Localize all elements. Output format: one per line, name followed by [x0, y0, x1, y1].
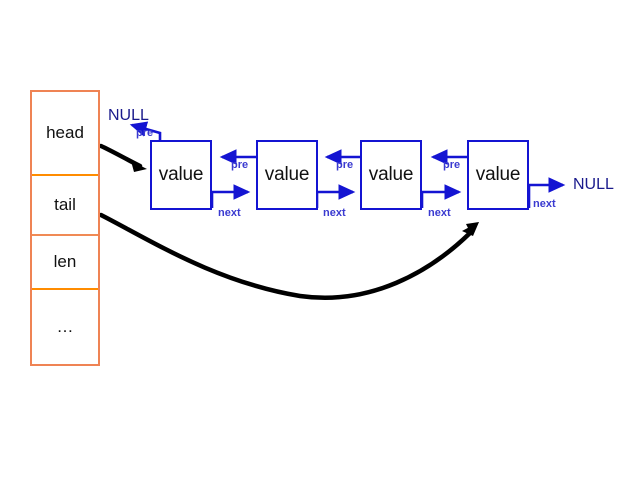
diagram-canvas: head tail len … value value value value … — [0, 0, 640, 480]
struct-field-ellipsis-label: … — [57, 317, 74, 337]
struct-field-tail-label: tail — [54, 195, 76, 215]
pre-label-0: pre — [136, 128, 153, 139]
list-struct-box: head tail len … — [30, 90, 100, 366]
next-pointer-arrow-2 — [317, 192, 353, 208]
list-node-3-label: value — [369, 164, 413, 186]
pre-label-3: pre — [443, 160, 460, 171]
list-node-1-label: value — [159, 164, 203, 186]
list-node-3: value — [360, 140, 422, 210]
pre-label-1: pre — [231, 160, 248, 171]
struct-field-ellipsis: … — [32, 290, 98, 364]
list-node-1: value — [150, 140, 212, 210]
struct-field-len: len — [32, 236, 98, 290]
list-node-4-label: value — [476, 164, 520, 186]
next-label-3: next — [428, 208, 451, 219]
null-label-left: NULL — [108, 108, 149, 124]
next-label-4: next — [533, 199, 556, 210]
null-label-right: NULL — [573, 177, 614, 193]
next-label-1: next — [218, 208, 241, 219]
struct-field-head-label: head — [46, 123, 84, 143]
next-label-2: next — [323, 208, 346, 219]
next-pointer-arrow-1 — [212, 192, 248, 208]
struct-field-head: head — [32, 92, 98, 176]
struct-field-len-label: len — [54, 252, 77, 272]
tail-pointer-arrow — [101, 215, 479, 298]
next-pointer-arrow-3 — [422, 192, 459, 208]
pre-label-2: pre — [336, 160, 353, 171]
struct-field-tail: tail — [32, 176, 98, 236]
head-pointer-arrow — [101, 146, 147, 172]
list-node-4: value — [467, 140, 529, 210]
list-node-2-label: value — [265, 164, 309, 186]
list-node-2: value — [256, 140, 318, 210]
